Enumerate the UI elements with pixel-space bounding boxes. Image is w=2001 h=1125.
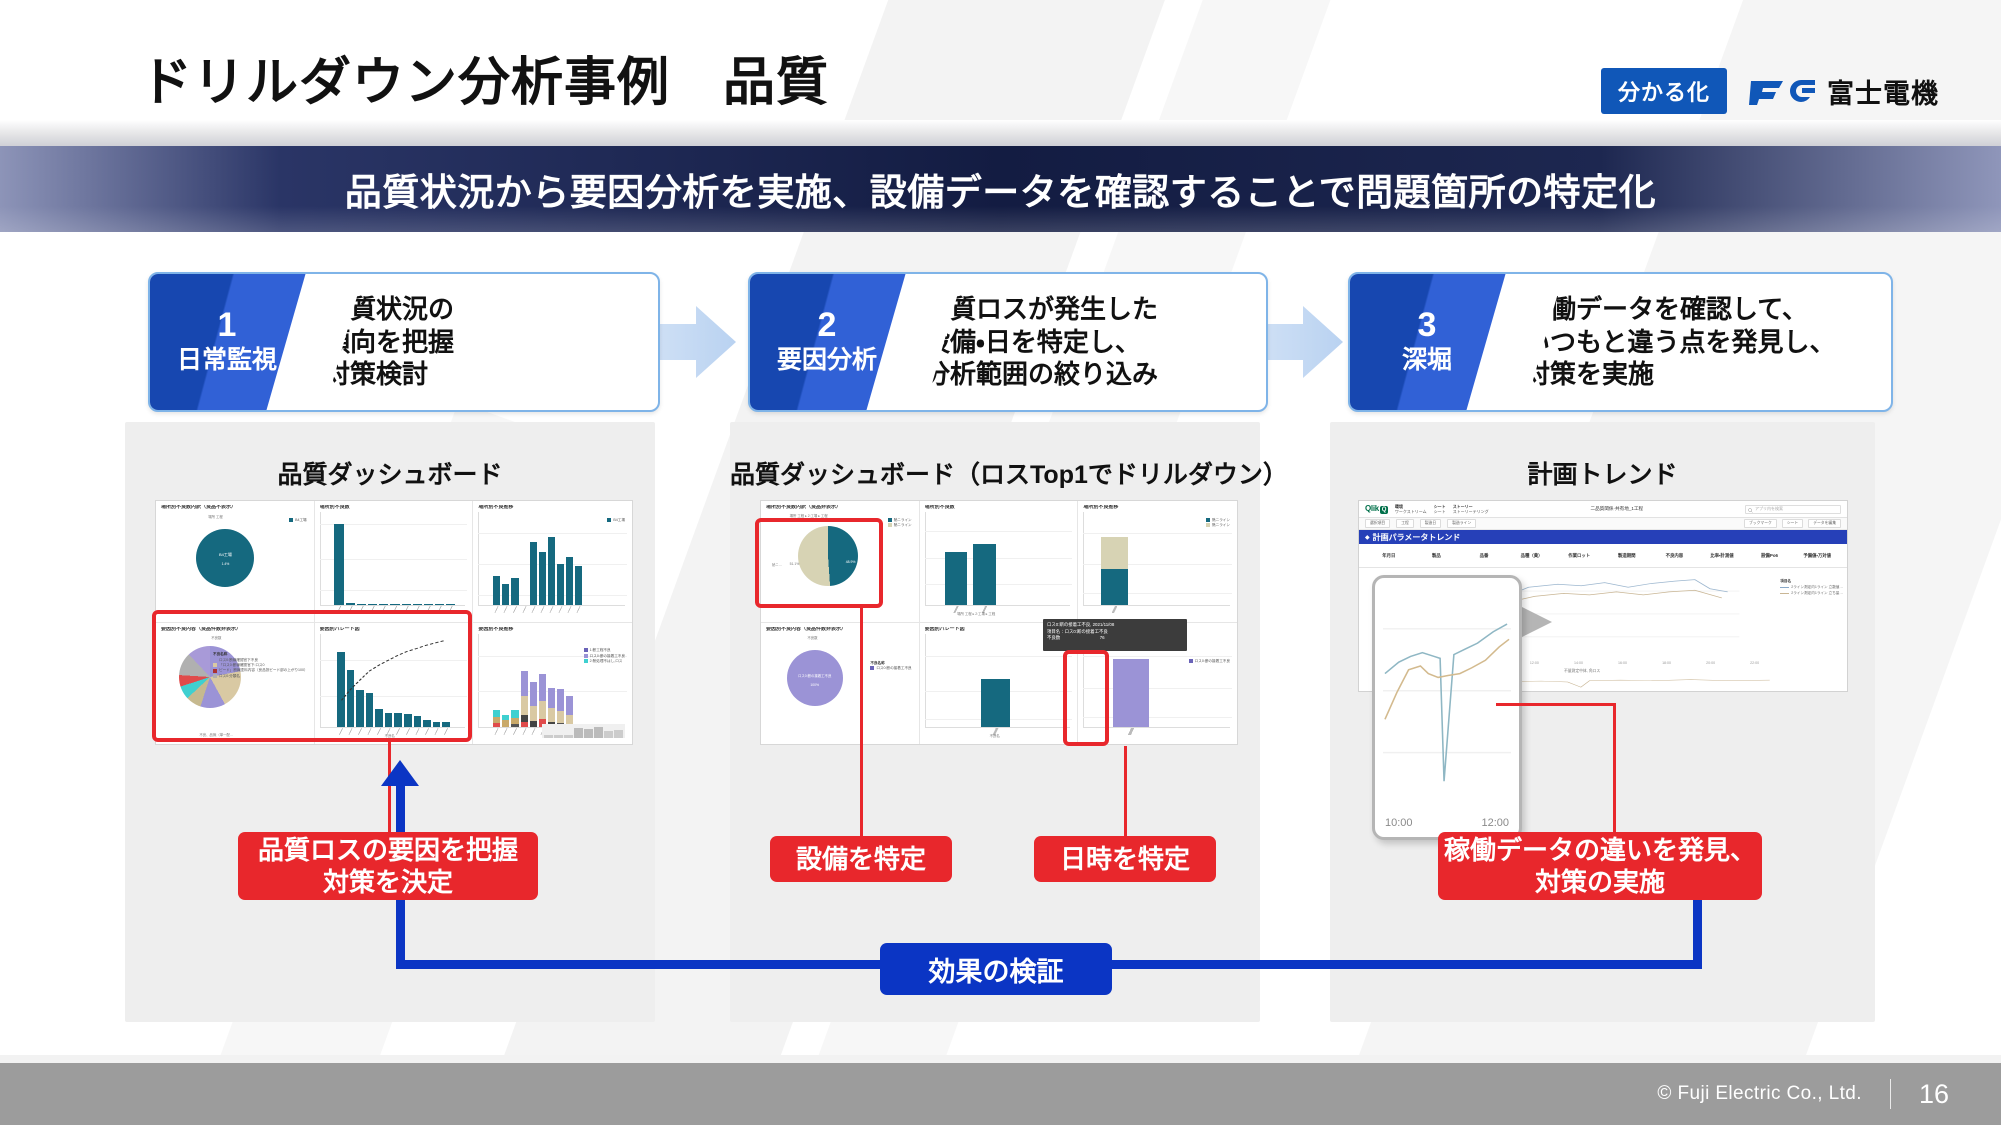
xtick-1: 12:00 xyxy=(1530,661,1539,665)
secondary-trend-line xyxy=(1515,675,1779,689)
qlik-app-name: 二品質関係·共有地_1工程 xyxy=(1591,506,1644,512)
pie-legend: B4工場 xyxy=(289,518,307,523)
tile2-cause-defect-content[interactable]: 要因別不良内容（良品件数非表示） 不良数 ロス0:断の接着工不良 100% 不良… xyxy=(761,623,920,745)
step-phase-1: 日常監視 xyxy=(177,344,277,377)
bar-series xyxy=(945,520,995,604)
tile2-location-defect-trend[interactable]: 場所別不良推移 熱ニライン 熱ニライン xyxy=(1078,501,1237,623)
magnifier-time-end: 12:00 xyxy=(1481,817,1509,829)
feedback-loop-label: 効果の検証 xyxy=(880,943,1112,995)
col-5[interactable]: 製造期間 xyxy=(1603,553,1651,559)
page-number: 16 xyxy=(1919,1079,1949,1110)
chip-date[interactable]: 製造日 xyxy=(1420,519,1441,528)
legend-label: ロス0:断の接着工不良 xyxy=(590,654,625,658)
pie-header: 不良数 xyxy=(807,635,817,640)
stacked-legend: 1:断工程不良 ロス0:断の接着工不良 2:熱処理不はし,ロス xyxy=(584,648,625,664)
stacked-series xyxy=(1101,520,1128,604)
pie-plot: 不良数 ロス0:断の接着工不良 100% 不良名称 ロス0:断の接着工不良 xyxy=(766,634,914,739)
connector-line-callout-4h xyxy=(1496,703,1616,706)
chip-line[interactable]: 製造ライン xyxy=(1447,519,1476,528)
pie-slice-full: B4工場 1.4% xyxy=(196,529,254,587)
step-card-3[interactable]: 3 深堀 稼働データを確認して、 いつもと違う点を発見し、 対策を実施 xyxy=(1348,272,1893,412)
xtick-2: 14:00 xyxy=(1574,661,1583,665)
stacked-series xyxy=(493,642,573,727)
mini-scroll-preview[interactable] xyxy=(542,724,625,738)
legend-label: ロス0:断の接着工不良 xyxy=(1195,659,1230,663)
qlik-topbar: QlikQ 環境 ワークストリーム シート シート ストーリー ストーリーテリン… xyxy=(1359,501,1847,518)
callout1-line2: 対策を決定 xyxy=(258,866,518,899)
tile-title: 場所別不良数内訳（良品不表示） xyxy=(161,505,309,510)
tooltip-line-3: 不良数 76 xyxy=(1047,635,1183,642)
search-input[interactable]: アプリ内を検索 xyxy=(1745,505,1841,514)
bar-series xyxy=(493,520,582,604)
brand-area: 分かる化 富士電機 xyxy=(1601,68,1939,114)
pie-slice-full: ロス0:断の接着工不良 100% xyxy=(787,650,843,706)
tile-title: 場所別不良数 xyxy=(925,505,1073,510)
legend-label: ロス0:断線確認官下不良 xyxy=(219,658,258,662)
copyright-text: © Fuji Electric Co., Ltd. xyxy=(1657,1083,1862,1105)
bar-series xyxy=(1113,642,1149,727)
pie-label: ロス0:断の接着工不良 xyxy=(787,673,843,678)
col-7[interactable]: 比率・計測値 xyxy=(1698,553,1746,559)
wakaru-badge: 分かる化 xyxy=(1601,68,1727,114)
pie-pct: 100% xyxy=(787,683,843,687)
tile-location-defect-breakdown[interactable]: 場所別不良数内訳（良品不表示） 場所 工程 B4工場 1.4% B4工場 xyxy=(156,501,315,623)
step2-line1: 品質ロスが発生した xyxy=(924,293,1158,326)
callout4-line2: 対策の実施 xyxy=(1444,866,1756,899)
chip-edit-data[interactable]: データを編集 xyxy=(1808,519,1841,528)
tile-title: 場所別不良推移 xyxy=(1083,505,1232,510)
pie-slice-label-left: 熱ニ… xyxy=(772,562,782,567)
step3-line1: 稼働データを確認して、 xyxy=(1524,293,1835,326)
callout-find-difference: 稼働データの違いを発見、 対策の実施 xyxy=(1438,832,1762,900)
xtick-3: 16:00 xyxy=(1618,661,1627,665)
step-body-2: 品質ロスが発生した 設備・日を特定し、 分析範囲の絞り込み xyxy=(910,274,1266,410)
fuji-logo: 富士電機 xyxy=(1749,72,1939,111)
col-1[interactable]: 製品 xyxy=(1413,553,1461,559)
callout-identify-equipment: 設備を特定 xyxy=(770,836,952,882)
x-axis-label: 不良名 xyxy=(990,733,1000,738)
tile-title: 場所別不良数内訳（良品非表示） xyxy=(766,505,914,510)
pie-footer: 不良、品無（単一配… xyxy=(199,732,233,737)
col-9[interactable]: 予備値・万対値 xyxy=(1793,553,1841,559)
tile-title: 場所別不良数 xyxy=(320,505,468,510)
tile2-location-defect-breakdown[interactable]: 場所別不良数内訳（良品非表示） 場所 工程 ▸ 2:工場 ▸ 工程 熱ニ… 51… xyxy=(761,501,920,623)
qlik-selection-toolbar: 選択項目 工程 製造日 製造ライン ブックマーク シート データを編集 xyxy=(1359,518,1847,530)
pareto-bars xyxy=(981,642,1011,727)
legend-label: 2ライン測定内1ライン 立数値… xyxy=(1791,585,1843,589)
qlik-sheet-title-text: 計画パラメータトレンド xyxy=(1373,532,1461,543)
fuji-mark-icon xyxy=(1749,75,1817,107)
pie-multi-plot: 不良数 不良名称 ロス0:断線確認官下不良 「ロス0:断線確認官下:ロス0 ピー… xyxy=(161,634,309,739)
step2-line2: 設備・日を特定し、 xyxy=(924,326,1158,359)
trend-sub-label: 不量測定中体, 角ロス xyxy=(1564,669,1600,674)
step-phase-2: 要因分析 xyxy=(777,344,877,377)
menu-bottom: ワークストリーム xyxy=(1395,509,1427,514)
legend-label: 2ライン測定内1ライン 立ち量… xyxy=(1791,591,1843,595)
pie-header: 場所 工程 ▸ 2:工場 ▸ 工程 xyxy=(790,513,828,518)
step-body-3: 稼働データを確認して、 いつもと違う点を発見し、 対策を実施 xyxy=(1510,274,1891,410)
col-8[interactable]: 設備Po6 xyxy=(1746,553,1794,559)
pie-label: B4工場 xyxy=(196,552,254,558)
step-badge-3: 3 深堀 xyxy=(1350,274,1510,410)
pie-header: 場所 工程 xyxy=(208,514,223,519)
tile-title: 要因別不良推移 xyxy=(478,627,627,632)
col-4[interactable]: 作業ロット xyxy=(1555,553,1603,559)
loop-arrow-head xyxy=(381,760,419,786)
tile-location-defect-trend[interactable]: 場所別不良推移 B4工場 xyxy=(473,501,632,623)
connector-line-callout-3 xyxy=(1124,746,1127,838)
legend-label: ピード」断線塗料内容（良品投ピード部の上がり100） xyxy=(219,668,308,672)
page-title: ドリルダウン分析事例 品質 xyxy=(140,40,829,115)
col-6[interactable]: 不良内容 xyxy=(1651,553,1699,559)
step-badge-1: 1 日常監視 xyxy=(150,274,310,410)
legend-label: 1:断工程不良 xyxy=(590,648,611,652)
magnifier-callout: 10:00 12:00 xyxy=(1372,575,1522,840)
footer-separator xyxy=(0,1055,2001,1063)
qlik-menu-item-stream[interactable]: 環境 ワークストリーム xyxy=(1395,504,1427,515)
quality-dashboard-screenshot-1[interactable]: 場所別不良数内訳（良品不表示） 場所 工程 B4工場 1.4% B4工場 場所別… xyxy=(155,500,633,745)
connector-line-callout-1 xyxy=(388,742,391,834)
panel-caption-3: 計画トレンド xyxy=(1330,455,1875,491)
pie-slice-pct-right: 48.9% xyxy=(846,560,856,564)
panel-caption-1: 品質ダッシュボード xyxy=(125,455,655,491)
qlik-menu-item-story[interactable]: ストーリー ストーリーテリング xyxy=(1453,504,1489,515)
chip-selections[interactable]: 選択項目 xyxy=(1365,519,1390,528)
step-number-1: 1 xyxy=(218,308,237,344)
pie-slice-pct-left: 51.1% xyxy=(790,562,800,566)
tile-title: 要因別パレート図 xyxy=(320,627,468,632)
chart-tooltip: ロス0:断の接着工不良, 2021/11/08 項目名：ロス0:断の接着工不良 … xyxy=(1043,619,1187,651)
qlik-logo-text: Qlik xyxy=(1365,504,1379,513)
fuji-brand-name: 富士電機 xyxy=(1827,72,1939,111)
tile2-location-defect-count[interactable]: 場所別不良数 場所 工程 ▸ 2:工場 ▸ 工程 xyxy=(920,501,1079,623)
qlik-logo[interactable]: QlikQ xyxy=(1365,504,1388,514)
step2-line3: 分析範囲の絞り込み xyxy=(924,358,1158,391)
trend-x-axis: 10:00 12:00 14:00 16:00 18:00 20:00 22:0… xyxy=(1486,661,1759,665)
qlik-sheet-title: ◆ 計画パラメータトレンド xyxy=(1359,530,1847,544)
slide-footer: © Fuji Electric Co., Ltd. 16 xyxy=(0,1063,2001,1125)
bar-series xyxy=(334,520,455,604)
footer-divider xyxy=(1890,1079,1891,1109)
bullet-icon: ◆ xyxy=(1365,534,1370,541)
legend-label: ロス0:断の接着工不良 xyxy=(876,666,911,670)
step-phase-3: 深堀 xyxy=(1402,344,1452,377)
step3-line2: いつもと違う点を発見し、 xyxy=(1524,326,1835,359)
pie-legend: 熱ニライン 熱ニライン xyxy=(888,518,912,529)
magnifier-time-start: 10:00 xyxy=(1385,817,1413,829)
step3-line3: 対策を実施 xyxy=(1524,358,1835,391)
pie-pct: 1.4% xyxy=(196,562,254,566)
legend-label: B4工場 xyxy=(613,518,625,522)
col-3[interactable]: 品種（黄） xyxy=(1508,553,1556,559)
qlik-logo-mark: Q xyxy=(1380,506,1388,514)
banner-gloss xyxy=(0,206,2001,232)
tile-cause-pareto[interactable]: 要因別パレート図 xyxy=(315,623,474,745)
legend-label: B4工場 xyxy=(295,518,307,522)
pie-plot: 場所 工程 ▸ 2:工場 ▸ 工程 熱ニ… 51.1% 48.9% 熱ニライン … xyxy=(766,512,914,616)
step-number-2: 2 xyxy=(818,308,837,344)
step-card-2[interactable]: 2 要因分析 品質ロスが発生した 設備・日を特定し、 分析範囲の絞り込み xyxy=(748,272,1268,412)
tile-cause-defect-trend[interactable]: 要因別不良推移 xyxy=(473,623,632,745)
callout1-line1: 品質ロスの要因を把握 xyxy=(258,834,518,867)
pie-header: 不良数 xyxy=(211,635,221,640)
step1-line3: 対策検討 xyxy=(324,358,454,391)
qlik-menu-item-sheet[interactable]: シート シート xyxy=(1434,504,1446,515)
step-badge-2: 2 要因分析 xyxy=(750,274,910,410)
trend-legend: 項目名 2ライン測定内1ライン 立数値… 2ライン測定内1ライン 立ち量… xyxy=(1780,578,1843,596)
stacked-bar-plot: 1:断工程不良 ロス0:断の接着工不良 2:熱処理不はし,ロス xyxy=(478,634,627,739)
step-body-1: 品質状況の 傾向を把握 対策検討 xyxy=(310,274,658,410)
subtitle-banner: 品質状況から要因分析を実施、設備データを確認することで問題箇所の特定化 xyxy=(0,146,2001,232)
stacked-plot: 熱ニライン 熱ニライン xyxy=(1083,512,1232,616)
tile-title: 場所別不良推移 xyxy=(478,505,627,510)
pie-legend: 不良名称 ロス0:断の接着工不良 xyxy=(870,661,911,672)
bar-plot xyxy=(320,512,468,616)
legend-label: 熱ニライン xyxy=(1212,518,1230,522)
step-card-1[interactable]: 1 日常監視 品質状況の 傾向を把握 対策検討 xyxy=(148,272,660,412)
xtick-5: 20:00 xyxy=(1706,661,1715,665)
pareto-plot: 不良名 xyxy=(320,634,468,739)
pie-slices xyxy=(798,526,858,586)
pie-legend: 不良名称 ロス0:断線確認官下不良 「ロス0:断線確認官下:ロス0 ピード」断線… xyxy=(213,652,308,679)
menu-bottom: シート xyxy=(1434,509,1446,514)
callout4-line1: 稼働データの違いを発見、 xyxy=(1444,834,1756,867)
col-2[interactable]: 品番 xyxy=(1460,553,1508,559)
legend-label: 2:熱処理不はし,ロス xyxy=(590,659,623,663)
xtick-6: 22:00 xyxy=(1750,661,1759,665)
col-0[interactable]: 年月日 xyxy=(1365,553,1413,559)
bar-legend: B4工場 xyxy=(607,518,625,523)
connector-line-callout-2 xyxy=(860,608,863,838)
tile-cause-defect-content[interactable]: 要因別不良内容（良品件数非表示） 不良数 不良名称 ロス0:断線確認官下不良 「… xyxy=(156,623,315,745)
callout-identify-datetime: 日時を特定 xyxy=(1034,836,1216,882)
bar-plot: 場所 工程 ▸ 2:工場 ▸ 工程 xyxy=(925,512,1073,616)
chip-process[interactable]: 工程 xyxy=(1396,519,1414,528)
pie-plot: 場所 工程 B4工場 1.4% B4工場 xyxy=(161,512,309,616)
bar-plot: B4工場 xyxy=(478,512,627,616)
tile-location-defect-count[interactable]: 場所別不良数 xyxy=(315,501,474,623)
x-axis-label: 不良名 xyxy=(385,733,395,738)
connector-line-callout-4v xyxy=(1613,703,1616,835)
flow-arrow-2-to-3 xyxy=(1255,296,1347,388)
legend-label: 熱ニライン xyxy=(894,523,912,527)
flow-arrow-1-to-2 xyxy=(648,296,740,388)
x-footer: 場所 工程 ▸ 2:工場 ▸ 工程 xyxy=(957,611,995,616)
chip-bookmark[interactable]: ブックマーク xyxy=(1744,519,1777,528)
menu-bottom: ストーリーテリング xyxy=(1453,509,1489,514)
chip-sheet[interactable]: シート xyxy=(1782,519,1803,528)
legend-label: 「ロス0:断線確認官下:ロス0 xyxy=(219,663,265,667)
xtick-4: 18:00 xyxy=(1662,661,1671,665)
qlik-filter-columns: 年月日 製品 品番 品種（黄） 作業ロット 製造期間 不良内容 比率・計測値 設… xyxy=(1359,544,1847,568)
search-icon xyxy=(1748,508,1753,513)
panel-caption-2: 品質ダッシュボード（ロスTop1でドリルダウン） xyxy=(730,455,1260,491)
magnifier-time-axis: 10:00 12:00 xyxy=(1385,817,1509,829)
step-number-3: 3 xyxy=(1418,308,1437,344)
tile-title: 要因別不良内容（良品件数非表示） xyxy=(161,627,309,632)
slide-header: ドリルダウン分析事例 品質 分かる化 富士電機 xyxy=(0,0,2001,128)
bar-legend: ロス0:断の接着工不良 xyxy=(1189,659,1230,664)
legend-label: ロス0:分類名 xyxy=(219,674,240,678)
legend-label: 熱ニライン xyxy=(894,518,912,522)
pareto-cumulative-line xyxy=(337,640,449,717)
callout-cause-grasp: 品質ロスの要因を把握 対策を決定 xyxy=(238,832,538,900)
legend-label: 熱ニライン xyxy=(1212,523,1230,527)
stacked-legend: 熱ニライン 熱ニライン xyxy=(1206,518,1230,529)
search-placeholder: アプリ内を検索 xyxy=(1755,506,1783,511)
tile-title: 要因別不良内容（良品件数非表示） xyxy=(766,627,914,632)
magnified-trend xyxy=(1383,586,1511,805)
tooltip-line-1: ロス0:断の接着工不良, 2021/11/08 xyxy=(1047,622,1183,629)
